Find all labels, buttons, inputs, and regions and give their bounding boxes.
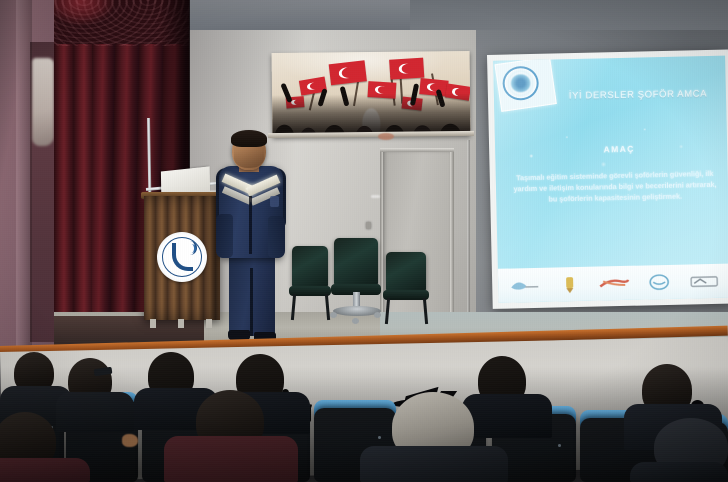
sponsor-logo-4-icon: [642, 272, 676, 293]
turkish-flag-icon: [389, 58, 424, 80]
presentation-slide: İYİ DERSLER ŞOFÖR AMCA AMAÇ Taşımalı eği…: [493, 56, 728, 303]
audience-member-6-shoulders: [462, 394, 552, 438]
audience-member-10-shoulders: [0, 458, 90, 482]
podium-foot: [150, 319, 156, 328]
audience-member-5-shoulders: [164, 436, 298, 482]
stage-chair-right-back[interactable]: [386, 252, 426, 294]
turkish-flag-icon: [329, 60, 367, 85]
doorway-lintel: [380, 148, 454, 152]
sponsor-logo-5-icon: [687, 271, 721, 292]
sponsor-logo-1-icon: [507, 275, 541, 296]
podium-foot: [178, 319, 184, 328]
sponsor-logo-2-icon: [552, 274, 586, 295]
wall-seam: [467, 140, 470, 340]
slide-sponsor-logo-bar: [498, 264, 728, 303]
presenter-face-shadow: [234, 146, 264, 168]
turkish-flags-crowd-poster: [272, 51, 471, 137]
presenter-hair: [231, 130, 267, 147]
chair-caster: [352, 318, 359, 324]
stage-chair-swivel-back[interactable]: [334, 238, 378, 288]
audience-hand: [122, 434, 138, 447]
audience-member-2-shoulders: [56, 392, 134, 432]
left-wall-pillar: [16, 0, 32, 352]
presenter-arm-left: [216, 214, 233, 258]
chair-caster: [374, 312, 381, 318]
podium-foot: [206, 319, 212, 328]
audience-member-8-shoulders: [630, 462, 728, 482]
light-switch[interactable]: [366, 222, 371, 229]
projection-screen: İYİ DERSLER ŞOFÖR AMCA AMAÇ Taşımalı eği…: [487, 50, 728, 309]
audience-member-7-shoulders: [360, 446, 508, 482]
seminar-photo: İYİ DERSLER ŞOFÖR AMCA AMAÇ Taşımalı eği…: [0, 0, 728, 482]
uniform-zipper: [249, 196, 252, 254]
presenter-arm-right: [268, 216, 285, 258]
chair-caster: [330, 312, 337, 318]
seat-stud: [558, 444, 561, 447]
wall-scuff: [371, 195, 380, 198]
poster-clip: [378, 133, 394, 140]
presenter-leg-seam: [250, 268, 253, 336]
stage-chair-left-back[interactable]: [292, 246, 328, 290]
seat-stud: [378, 436, 381, 439]
left-wall-paper: [32, 58, 54, 146]
uniform-badge: [270, 196, 279, 207]
sponsor-logo-3-icon: [597, 273, 631, 294]
